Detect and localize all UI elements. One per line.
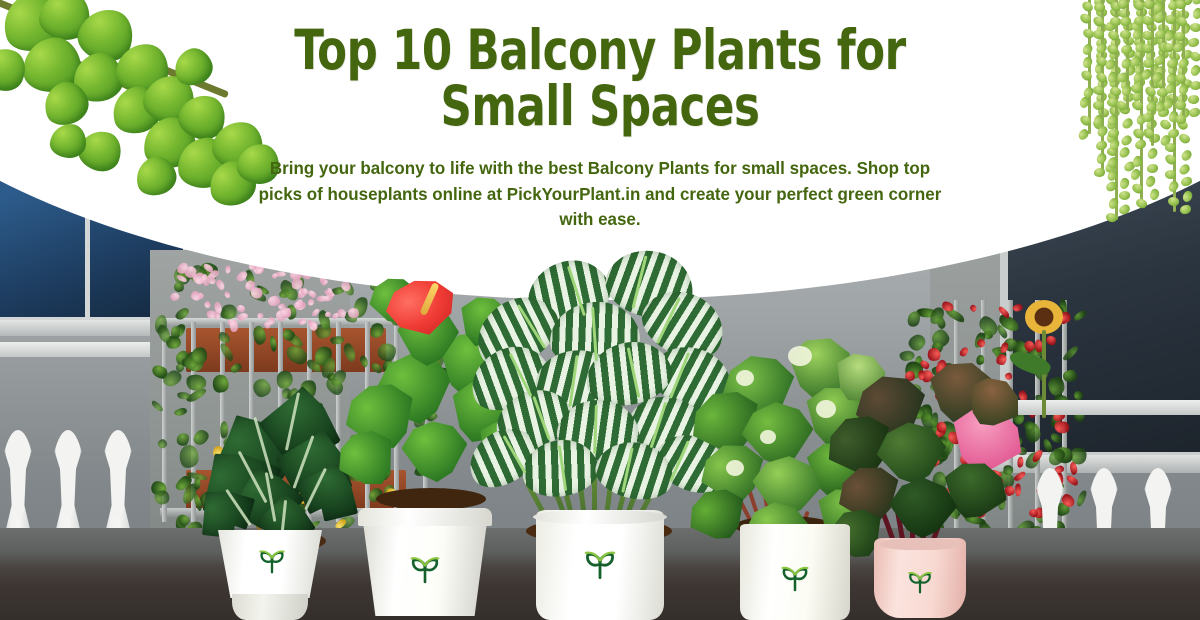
pot-logo bbox=[906, 567, 934, 600]
pot-philodendron bbox=[740, 524, 850, 620]
variegation-patch bbox=[816, 400, 836, 418]
pot-logo bbox=[582, 545, 618, 586]
pot-logo bbox=[779, 561, 811, 598]
pot-rim bbox=[533, 510, 667, 524]
pot-anthurium bbox=[358, 508, 492, 620]
pot-rim bbox=[358, 508, 492, 526]
sprout-logo-icon bbox=[906, 567, 934, 595]
potting-soil bbox=[376, 488, 486, 510]
sprout-logo-icon bbox=[408, 551, 442, 585]
pot-pink-princess bbox=[874, 538, 966, 618]
pot-inner-shadow bbox=[880, 538, 960, 550]
pot-alocasia bbox=[214, 530, 330, 620]
potted-plants-row bbox=[0, 0, 1200, 620]
pot-saucer bbox=[232, 594, 308, 620]
pot-logo bbox=[408, 551, 442, 590]
plant-unit-pink-princess bbox=[840, 360, 1020, 620]
variegation-patch bbox=[726, 460, 744, 476]
sprout-logo-icon bbox=[257, 545, 287, 575]
pot-logo bbox=[257, 545, 287, 580]
variegation-patch bbox=[788, 346, 812, 366]
sprout-logo-icon bbox=[582, 545, 618, 581]
pot-calathea bbox=[536, 510, 664, 620]
variegation-patch bbox=[760, 430, 776, 444]
plant-leaf bbox=[400, 418, 470, 484]
sprout-logo-icon bbox=[779, 561, 811, 593]
balcony-plants-banner: Top 10 Balcony Plants for Small Spaces B… bbox=[0, 0, 1200, 620]
variegation-patch bbox=[736, 370, 754, 386]
plant-unit-calathea bbox=[480, 250, 720, 620]
plant-unit-alocasia bbox=[208, 380, 348, 620]
